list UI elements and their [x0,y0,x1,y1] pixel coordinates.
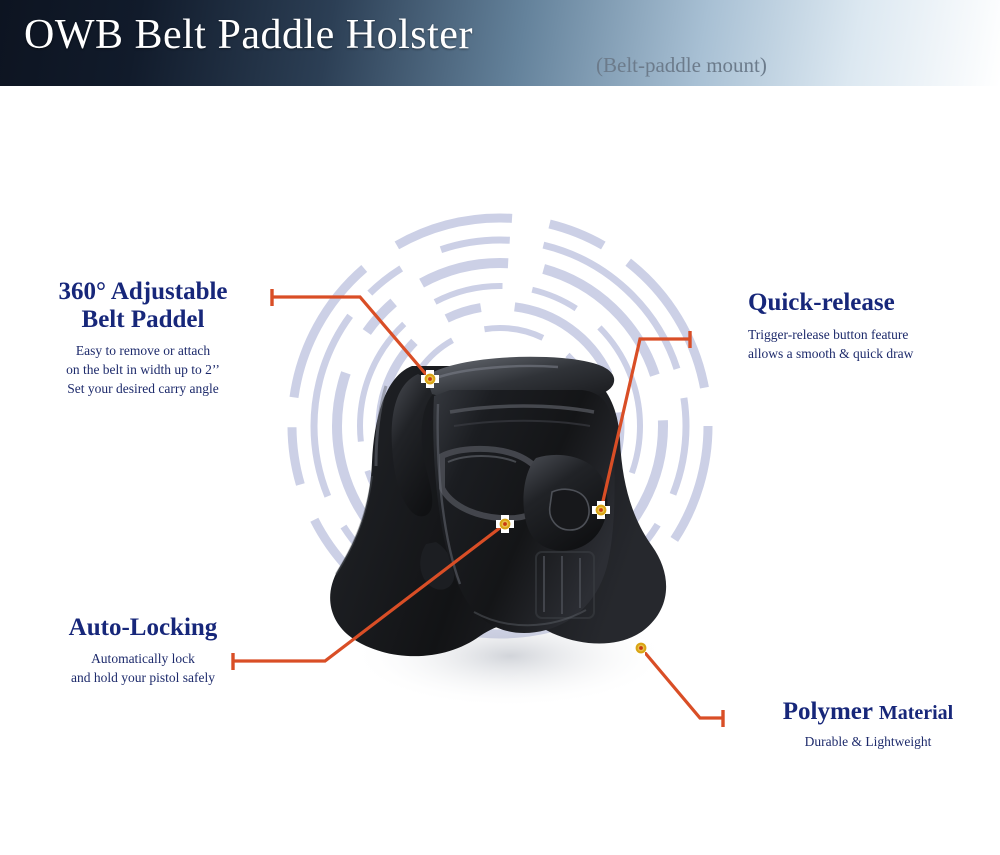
callout-auto-locking-body: Automatically lock and hold your pistol … [18,649,268,687]
page-title: OWB Belt Paddle Holster [24,14,473,56]
callout-auto-locking-heading: Auto-Locking [18,614,268,642]
release-button [550,489,589,530]
screw-marker-auto-locking [494,513,516,535]
callout-auto-locking: Auto-Locking Automatically lock and hold… [18,614,268,687]
screw-marker-polymer [630,637,652,659]
callout-quick-release-heading: Quick-release [748,289,988,317]
callout-belt-paddle-heading: 360° Adjustable Belt Paddel [18,278,268,334]
content-stage: 360° Adjustable Belt Paddel Easy to remo… [0,86,1000,769]
header-banner: OWB Belt Paddle Holster (Belt-paddle mou… [0,0,1000,86]
callout-belt-paddle-body: Easy to remove or attach on the belt in … [18,341,268,398]
page-subtitle: (Belt-paddle mount) [596,55,767,76]
callout-polymer-material: Polymer Material Durable & Lightweight [748,698,988,751]
screw-marker-quick-release [590,499,612,521]
callout-polymer-body: Durable & Lightweight [748,732,988,751]
screw-marker-belt-paddle [419,368,441,390]
callout-quick-release: Quick-release Trigger-release button fea… [748,289,988,363]
callout-quick-release-body: Trigger-release button feature allows a … [748,325,988,363]
callout-belt-paddle: 360° Adjustable Belt Paddel Easy to remo… [18,278,268,398]
callout-polymer-heading: Polymer Material [748,698,988,726]
